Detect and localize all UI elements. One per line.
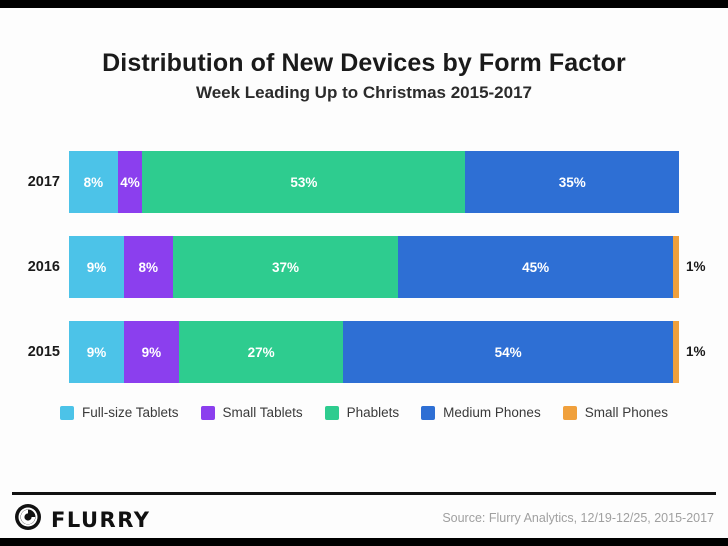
segment-value-label: 4% [120,175,140,190]
bottom-divider [0,538,728,546]
segment-value-label: 9% [87,260,107,275]
footer-divider [12,492,716,495]
legend-swatch-icon [201,406,215,420]
bar-segment[interactable]: 8% [69,151,118,213]
source-note: Source: Flurry Analytics, 12/19-12/25, 2… [442,511,714,525]
category-label-2017: 2017 [10,151,60,213]
segment-value-label: 8% [139,260,159,275]
legend-label: Phablets [347,405,400,420]
bar-segment[interactable]: 9% [69,236,124,298]
top-divider [0,0,728,8]
flurry-spiral-icon [14,503,42,536]
segment-value-label: 27% [248,345,275,360]
bar-segment[interactable]: 35% [465,151,679,213]
footer: FLURRY Source: Flurry Analytics, 12/19-1… [0,498,728,538]
legend-swatch-icon [421,406,435,420]
bar-row: 20178%4%53%35% [0,151,728,213]
legend-label: Full-size Tablets [82,405,179,420]
legend-label: Medium Phones [443,405,541,420]
chart-container: Distribution of New Devices by Form Fact… [0,0,728,546]
segment-value-label: 35% [559,175,586,190]
bar-row: 20159%9%27%54%1% [0,321,728,383]
segment-value-label: 9% [142,345,162,360]
bar-segment[interactable]: 9% [69,321,124,383]
legend-item-phablets[interactable]: Phablets [325,405,400,420]
bar-segment[interactable]: 9% [124,321,179,383]
bar-segment[interactable]: 27% [179,321,344,383]
legend-label: Small Phones [585,405,668,420]
title-block: Distribution of New Devices by Form Fact… [0,48,728,103]
legend-swatch-icon [563,406,577,420]
category-label-2015: 2015 [10,321,60,383]
legend-swatch-icon [325,406,339,420]
segment-value-label: 9% [87,345,107,360]
segment-value-label: 45% [522,260,549,275]
category-label-2016: 2016 [10,236,60,298]
legend-item-small-tablets[interactable]: Small Tablets [201,405,303,420]
segment-outside-label: 1% [679,321,706,383]
legend-swatch-icon [60,406,74,420]
segment-value-label: 8% [84,175,104,190]
bar-segment[interactable]: 54% [343,321,672,383]
segment-value-label: 53% [290,175,317,190]
segment-outside-label: 1% [679,236,706,298]
segment-value-label: 54% [495,345,522,360]
bar-segment[interactable]: 4% [118,151,142,213]
bar-segment[interactable]: 8% [124,236,173,298]
legend-item-full-size-tablets[interactable]: Full-size Tablets [60,405,179,420]
segment-value-label: 37% [272,260,299,275]
chart-title: Distribution of New Devices by Form Fact… [0,48,728,78]
bar-segment[interactable]: 53% [142,151,465,213]
flurry-wordmark: FLURRY [51,508,150,532]
stacked-bar[interactable]: 8%4%53%35% [69,151,679,213]
bar-segment[interactable]: 45% [398,236,673,298]
flurry-brand: FLURRY [14,503,150,536]
bar-row: 20169%8%37%45%1% [0,236,728,298]
plot-area: 20178%4%53%35%20169%8%37%45%1%20159%9%27… [0,140,728,390]
legend-item-small-phones[interactable]: Small Phones [563,405,668,420]
stacked-bar[interactable]: 9%8%37%45% [69,236,679,298]
legend-label: Small Tablets [223,405,303,420]
legend-item-medium-phones[interactable]: Medium Phones [421,405,541,420]
chart-legend: Full-size TabletsSmall TabletsPhabletsMe… [0,405,728,420]
stacked-bar[interactable]: 9%9%27%54% [69,321,679,383]
bar-segment[interactable]: 37% [173,236,399,298]
chart-subtitle: Week Leading Up to Christmas 2015-2017 [0,83,728,103]
